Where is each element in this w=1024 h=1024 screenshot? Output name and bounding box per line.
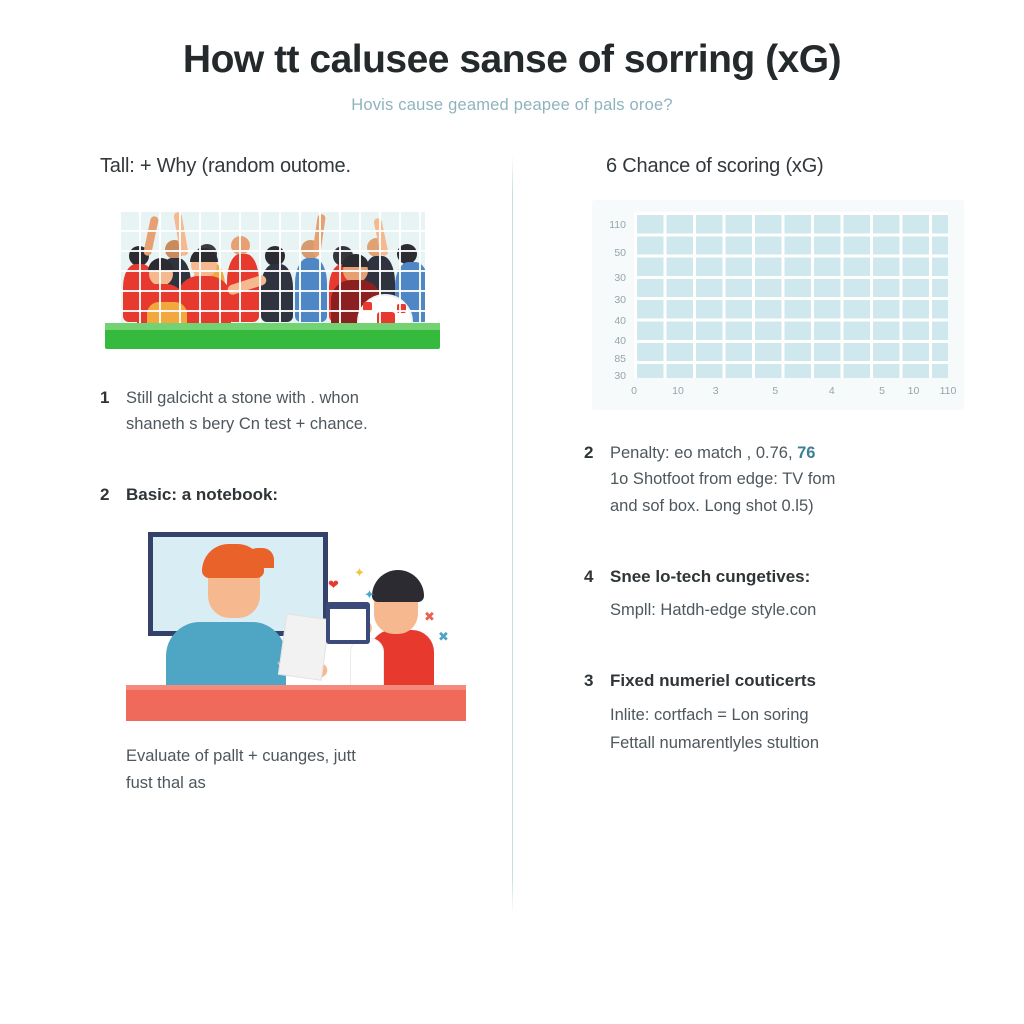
right-list-item-2: 2 Penalty: eo match , 0.76, 76 1o Shotfo… [584, 440, 954, 520]
page-subtitle: Hovis cause geamed peapee of pals oroe? [0, 96, 1024, 115]
clipboard-icon [326, 602, 370, 644]
right-list-item-4: 4 Snee lo-tech cungetives: Smpll: Hatdh-… [584, 564, 954, 624]
list-body: Fixed numeriel couticerts Inlite: cortfa… [610, 668, 819, 757]
list-text: Still galcicht a stone with . whon shane… [126, 385, 368, 438]
left-caption: Evaluate of pallt + cuanges, jutt fust t… [126, 743, 450, 796]
list-heading: Basic: a notebook: [126, 482, 278, 508]
list-text-line-3: and sof box. Long shot 0.l5) [610, 493, 835, 520]
list-body: Snee lo-tech cungetives: Smpll: Hatdh-ed… [610, 564, 816, 624]
x-axis-tick: 3 [713, 385, 719, 397]
list-number: 4 [584, 564, 610, 624]
left-column: Tall: + Why (random outome. [0, 155, 512, 797]
y-axis-tick: 30 [614, 294, 626, 306]
y-axis-tick: 85 [614, 353, 626, 365]
list-number: 3 [584, 668, 610, 757]
list-number: 2 [584, 440, 610, 520]
x-axis-tick: 5 [772, 385, 778, 397]
y-axis-tick: 40 [614, 315, 626, 327]
left-section-heading: Tall: + Why (random outome. [100, 155, 450, 178]
xg-chart-panel: 110 50 30 30 40 40 85 30 0 10 3 5 4 5 10… [592, 200, 964, 410]
column-divider [512, 155, 513, 915]
list-text-prefix: Penalty: eo match , 0.76, [610, 444, 797, 462]
x-axis-tick: 0 [631, 385, 637, 397]
infographic-page: How tt calusee sanse of sorring (xG) Hov… [0, 0, 1024, 1024]
content-columns: Tall: + Why (random outome. [0, 155, 1024, 797]
list-text-line-1: Still galcicht a stone with . whon [126, 385, 368, 412]
x-axis-tick: 10 [908, 385, 920, 397]
x-axis-tick: 110 [940, 385, 957, 397]
sparkle-icon-yellow: ✦ [354, 566, 365, 579]
left-list-item-1: 1 Still galcicht a stone with . whon sha… [100, 385, 450, 438]
right-section-heading: 6 Chance of scoring (xG) [606, 155, 954, 178]
list-text-line-2: 1o Shotfoot from edge: TV fom [610, 466, 835, 493]
left-caption-line-1: Evaluate of pallt + cuanges, jutt [126, 743, 450, 770]
list-number: 2 [100, 482, 126, 508]
left-list-item-2: 2 Basic: a notebook: [100, 482, 450, 508]
list-text-line-2: shaneth s bery Cn test + chance. [126, 411, 368, 438]
y-axis-tick: 30 [614, 272, 626, 284]
list-subtext-line-2: Fettall numarentlyles stultion [610, 730, 819, 757]
page-title: How tt calusee sanse of sorring (xG) [0, 38, 1024, 82]
heart-icon: ❤ [328, 578, 339, 591]
sparkle-icon-teal: ✖ [438, 630, 449, 643]
football-goal-crowd-illustration [105, 200, 440, 355]
grass-strip [105, 323, 440, 349]
list-number: 1 [100, 385, 126, 438]
list-heading: Snee lo-tech cungetives: [610, 564, 816, 590]
x-axis-tick: 4 [829, 385, 835, 397]
page-header: How tt calusee sanse of sorring (xG) Hov… [0, 0, 1024, 115]
y-axis-tick: 40 [614, 335, 626, 347]
list-heading: Fixed numeriel couticerts [610, 668, 819, 694]
sparkle-icon-blue: ✦ [364, 588, 375, 601]
chart-plot-area: 110 50 30 30 40 40 85 30 0 10 3 5 4 5 10… [634, 212, 948, 378]
list-subtext: Smpll: Hatdh-edge style.con [610, 597, 816, 624]
y-axis-tick: 30 [614, 370, 626, 382]
x-axis-tick: 10 [672, 385, 684, 397]
interview-desk-illustration: ❤ ✦ ✦ ✖ ✖ [126, 526, 466, 721]
desk-surface [126, 685, 466, 721]
paper-sheet [278, 614, 330, 682]
y-axis-tick: 50 [614, 247, 626, 259]
list-text: Penalty: eo match , 0.76, 76 1o Shotfoot… [610, 440, 835, 520]
right-list-item-3: 3 Fixed numeriel couticerts Inlite: cort… [584, 668, 954, 757]
list-subtext-line-1: Inlite: cortfach = Lon soring [610, 702, 819, 729]
right-column: 6 Chance of scoring (xG) 110 50 30 30 40… [512, 155, 1024, 797]
goal-net [119, 210, 426, 325]
y-axis-tick: 110 [609, 219, 626, 231]
x-axis-tick: 5 [879, 385, 885, 397]
list-text-line-1: Penalty: eo match , 0.76, 76 [610, 440, 835, 467]
sparkle-icon-pink: ✖ [424, 610, 435, 623]
left-caption-line-2: fust thal as [126, 770, 450, 797]
person-red-vest-hair [372, 570, 424, 602]
highlighted-value: 76 [797, 444, 815, 462]
